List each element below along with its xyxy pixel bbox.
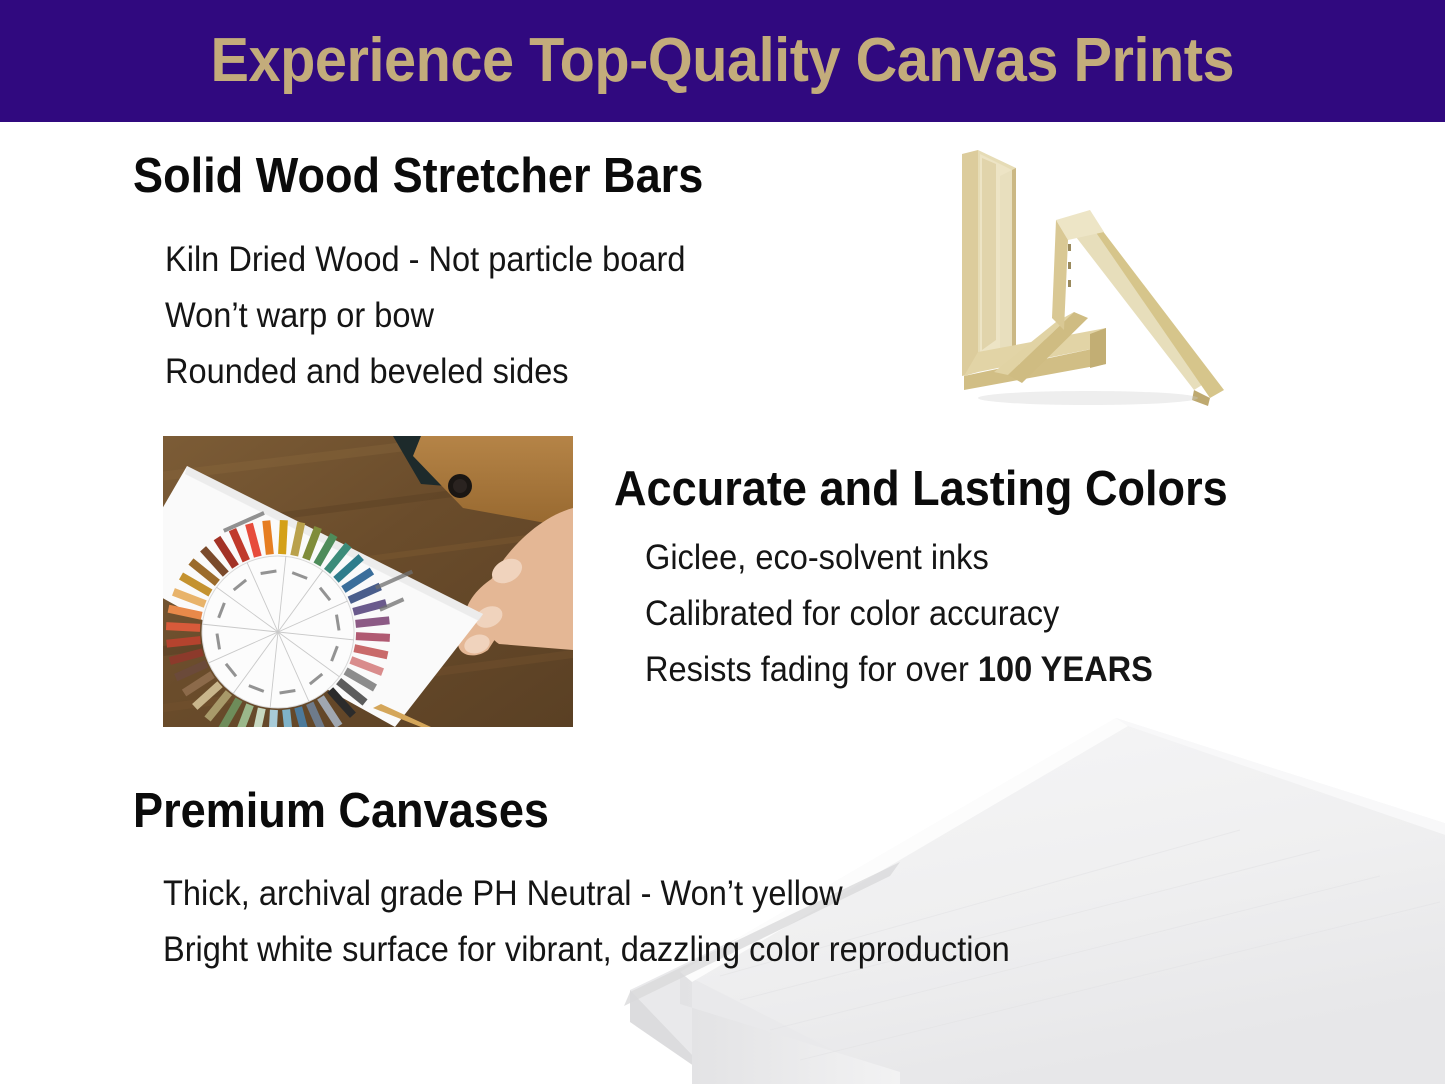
bullet-item: Giclee, eco-solvent inks	[645, 530, 1153, 586]
stretcher-bars-illustration	[938, 140, 1238, 410]
page-title: Experience Top-Quality Canvas Prints	[211, 30, 1235, 92]
bullet-item: Rounded and beveled sides	[165, 344, 685, 400]
section-heading-stretcher-bars: Solid Wood Stretcher Bars	[133, 152, 703, 201]
bullet-list-accurate-colors: Giclee, eco-solvent inks Calibrated for …	[645, 530, 1153, 698]
bullet-item-prefix: Resists fading for over	[645, 650, 978, 689]
header-banner: Experience Top-Quality Canvas Prints	[0, 0, 1445, 122]
bullet-item: Bright white surface for vibrant, dazzli…	[163, 922, 1010, 978]
bullet-item: Calibrated for color accuracy	[645, 586, 1153, 642]
bullet-list-premium-canvases: Thick, archival grade PH Neutral - Won’t…	[163, 866, 1010, 978]
section-heading-accurate-colors: Accurate and Lasting Colors	[614, 465, 1228, 514]
color-wheel-chart-photo	[163, 436, 573, 727]
wooden-stretcher-bars-photo	[938, 140, 1238, 410]
section-heading-premium-canvases: Premium Canvases	[133, 787, 549, 836]
bullet-item-emphasis: 100 YEARS	[978, 650, 1153, 689]
color-wheel-illustration	[163, 436, 573, 727]
bullet-item: Resists fading for over 100 YEARS	[645, 642, 1153, 698]
canvas-prints-infographic: Experience Top-Quality Canvas Prints	[0, 0, 1445, 1084]
bullet-item: Kiln Dried Wood - Not particle board	[165, 232, 685, 288]
bullet-item: Won’t warp or bow	[165, 288, 685, 344]
bullet-item: Thick, archival grade PH Neutral - Won’t…	[163, 866, 1010, 922]
bullet-list-stretcher-bars: Kiln Dried Wood - Not particle board Won…	[165, 232, 685, 400]
